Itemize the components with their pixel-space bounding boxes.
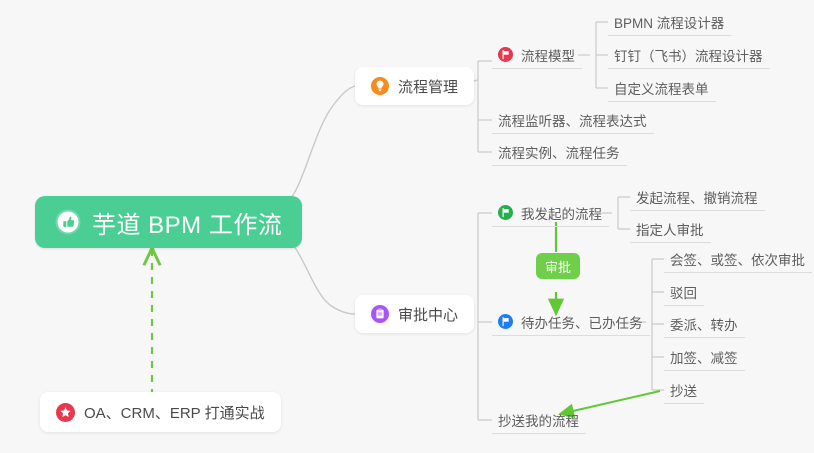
node-process-listener-expression[interactable]: 流程监听器、流程表达式 xyxy=(492,106,654,134)
node-label: 流程监听器、流程表达式 xyxy=(498,110,647,130)
star-icon xyxy=(56,403,75,422)
root-node[interactable]: 芋道 BPM 工作流 xyxy=(35,196,302,248)
node-process-instance-task[interactable]: 流程实例、流程任务 xyxy=(492,138,627,166)
connector-root-to-process-management xyxy=(280,86,355,205)
connector-root-to-approval-center xyxy=(280,237,355,314)
integration-note-label: OA、CRM、ERP 打通实战 xyxy=(84,402,265,423)
node-add-remove-sign[interactable]: 加签、减签 xyxy=(664,343,745,371)
node-assignee-approval[interactable]: 指定人审批 xyxy=(630,215,711,243)
branch-label: 流程管理 xyxy=(398,76,458,97)
root-label: 芋道 BPM 工作流 xyxy=(92,205,282,240)
integration-note[interactable]: OA、CRM、ERP 打通实战 xyxy=(40,392,281,432)
thumbs-up-icon xyxy=(55,209,81,235)
node-dingtalk-feishu-designer[interactable]: 钉钉（飞书）流程设计器 xyxy=(608,41,770,69)
node-label: 抄送我的流程 xyxy=(498,410,579,430)
node-delegate-transfer[interactable]: 委派、转办 xyxy=(664,310,745,338)
flag-icon xyxy=(498,314,513,329)
node-label: 会签、或签、依次审批 xyxy=(670,249,805,269)
node-label: 抄送 xyxy=(670,380,697,400)
node-cc-to-me-process[interactable]: 抄送我的流程 xyxy=(492,406,586,434)
branch-approval-center[interactable]: 审批中心 xyxy=(355,295,474,333)
node-label: BPMN 流程设计器 xyxy=(614,12,724,32)
node-label: 自定义流程表单 xyxy=(614,78,709,98)
flag-icon xyxy=(498,205,513,220)
node-reject[interactable]: 驳回 xyxy=(664,278,704,306)
node-countersign-or-sequential[interactable]: 会签、或签、依次审批 xyxy=(664,245,812,273)
node-my-initiated-process[interactable]: 我发起的流程 xyxy=(492,199,609,227)
branch-process-management[interactable]: 流程管理 xyxy=(355,67,474,105)
node-label: 我发起的流程 xyxy=(521,203,602,223)
node-label: 指定人审批 xyxy=(636,219,704,239)
node-label: 钉钉（飞书）流程设计器 xyxy=(614,45,763,65)
mindmap-canvas: 芋道 BPM 工作流 流程管理 流程模型 BPMN 流程设计器 钉钉（飞书 xyxy=(0,0,814,453)
node-label: 发起流程、撤销流程 xyxy=(636,187,758,207)
approval-tag-label: 审批 xyxy=(545,257,571,276)
node-label: 委派、转办 xyxy=(670,314,738,334)
flag-icon xyxy=(498,47,513,62)
approval-tag[interactable]: 审批 xyxy=(536,253,580,279)
lightbulb-icon xyxy=(371,77,389,95)
node-label: 流程实例、流程任务 xyxy=(498,142,620,162)
document-icon xyxy=(371,305,389,323)
node-label: 流程模型 xyxy=(521,45,575,65)
node-process-model[interactable]: 流程模型 xyxy=(492,41,582,69)
node-label: 待办任务、已办任务 xyxy=(521,312,643,332)
node-start-cancel-process[interactable]: 发起流程、撤销流程 xyxy=(630,183,765,211)
branch-label: 审批中心 xyxy=(398,304,458,325)
node-label: 驳回 xyxy=(670,282,697,302)
node-carbon-copy[interactable]: 抄送 xyxy=(664,376,704,404)
node-todo-done-tasks[interactable]: 待办任务、已办任务 xyxy=(492,308,650,336)
node-bpmn-designer[interactable]: BPMN 流程设计器 xyxy=(608,8,731,36)
node-custom-process-form[interactable]: 自定义流程表单 xyxy=(608,74,716,102)
node-label: 加签、减签 xyxy=(670,347,738,367)
